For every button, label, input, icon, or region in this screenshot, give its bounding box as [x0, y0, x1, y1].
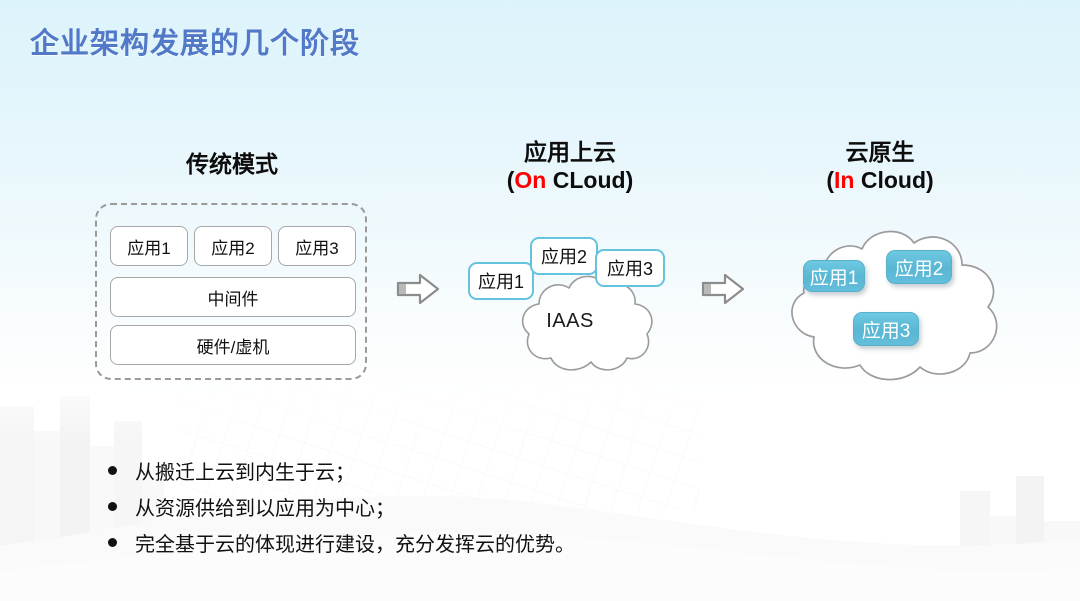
bullet-list: 从搬迁上云到内生于云； 从资源供给到以应用为中心； 完全基于云的体现进行建设，充… — [108, 452, 808, 560]
arrow-oncloud-to-cloudnative-icon — [701, 272, 745, 306]
oncloud-en-red: On — [514, 167, 546, 193]
traditional-layer-hardware[interactable]: 硬件/虚机 — [110, 325, 356, 365]
bullet-dot-icon — [108, 538, 117, 547]
stage-heading-oncloud-cn: 应用上云 — [450, 138, 690, 166]
bullet-text-2: 从资源供给到以应用为中心； — [135, 492, 395, 521]
oncloud-app-3[interactable]: 应用3 — [595, 249, 665, 287]
slide-canvas: 企业架构发展的几个阶段 传统模式 应用1 应用2 应用3 中间件 硬件/虚机 应… — [0, 0, 1080, 601]
cloudnative-cloud-icon — [758, 215, 1028, 400]
traditional-layer-middleware[interactable]: 中间件 — [110, 277, 356, 317]
list-item: 完全基于云的体现进行建设，充分发挥云的优势。 — [108, 524, 808, 560]
cloudnative-app-1[interactable]: 应用1 — [803, 260, 865, 292]
stage-heading-traditional: 传统模式 — [96, 150, 368, 178]
stage-heading-traditional-cn: 传统模式 — [96, 150, 368, 178]
oncloud-en-rest: CLoud) — [546, 167, 633, 193]
bullet-text-3: 完全基于云的体现进行建设，充分发挥云的优势。 — [135, 528, 575, 557]
bullet-text-1: 从搬迁上云到内生于云； — [135, 456, 355, 485]
arrow-traditional-to-oncloud-icon — [396, 272, 440, 306]
traditional-container: 应用1 应用2 应用3 中间件 硬件/虚机 — [95, 203, 367, 380]
cloudnative-app-3[interactable]: 应用3 — [853, 312, 919, 346]
traditional-app-3[interactable]: 应用3 — [278, 226, 356, 266]
traditional-app-2[interactable]: 应用2 — [194, 226, 272, 266]
cloudnative-paren-open: ( — [826, 167, 834, 193]
cloudnative-app-2[interactable]: 应用2 — [886, 250, 952, 284]
cloudnative-en-rest: Cloud) — [854, 167, 933, 193]
stage-heading-oncloud-en: (On CLoud) — [450, 166, 690, 194]
stage-heading-cloudnative: 云原生 (In Cloud) — [760, 138, 1000, 194]
iaas-label: IAAS — [535, 310, 605, 333]
stage-heading-cloudnative-en: (In Cloud) — [760, 166, 1000, 194]
bullet-dot-icon — [108, 466, 117, 475]
stage-heading-oncloud: 应用上云 (On CLoud) — [450, 138, 690, 194]
bullet-dot-icon — [108, 502, 117, 511]
page-title: 企业架构发展的几个阶段 — [30, 20, 360, 62]
oncloud-app-1[interactable]: 应用1 — [468, 262, 534, 300]
list-item: 从搬迁上云到内生于云； — [108, 452, 808, 488]
stage-heading-cloudnative-cn: 云原生 — [760, 138, 1000, 166]
traditional-app-1[interactable]: 应用1 — [110, 226, 188, 266]
cloudnative-en-red: In — [834, 167, 854, 193]
oncloud-app-2[interactable]: 应用2 — [530, 237, 598, 275]
traditional-app-row: 应用1 应用2 应用3 — [110, 226, 356, 266]
list-item: 从资源供给到以应用为中心； — [108, 488, 808, 524]
